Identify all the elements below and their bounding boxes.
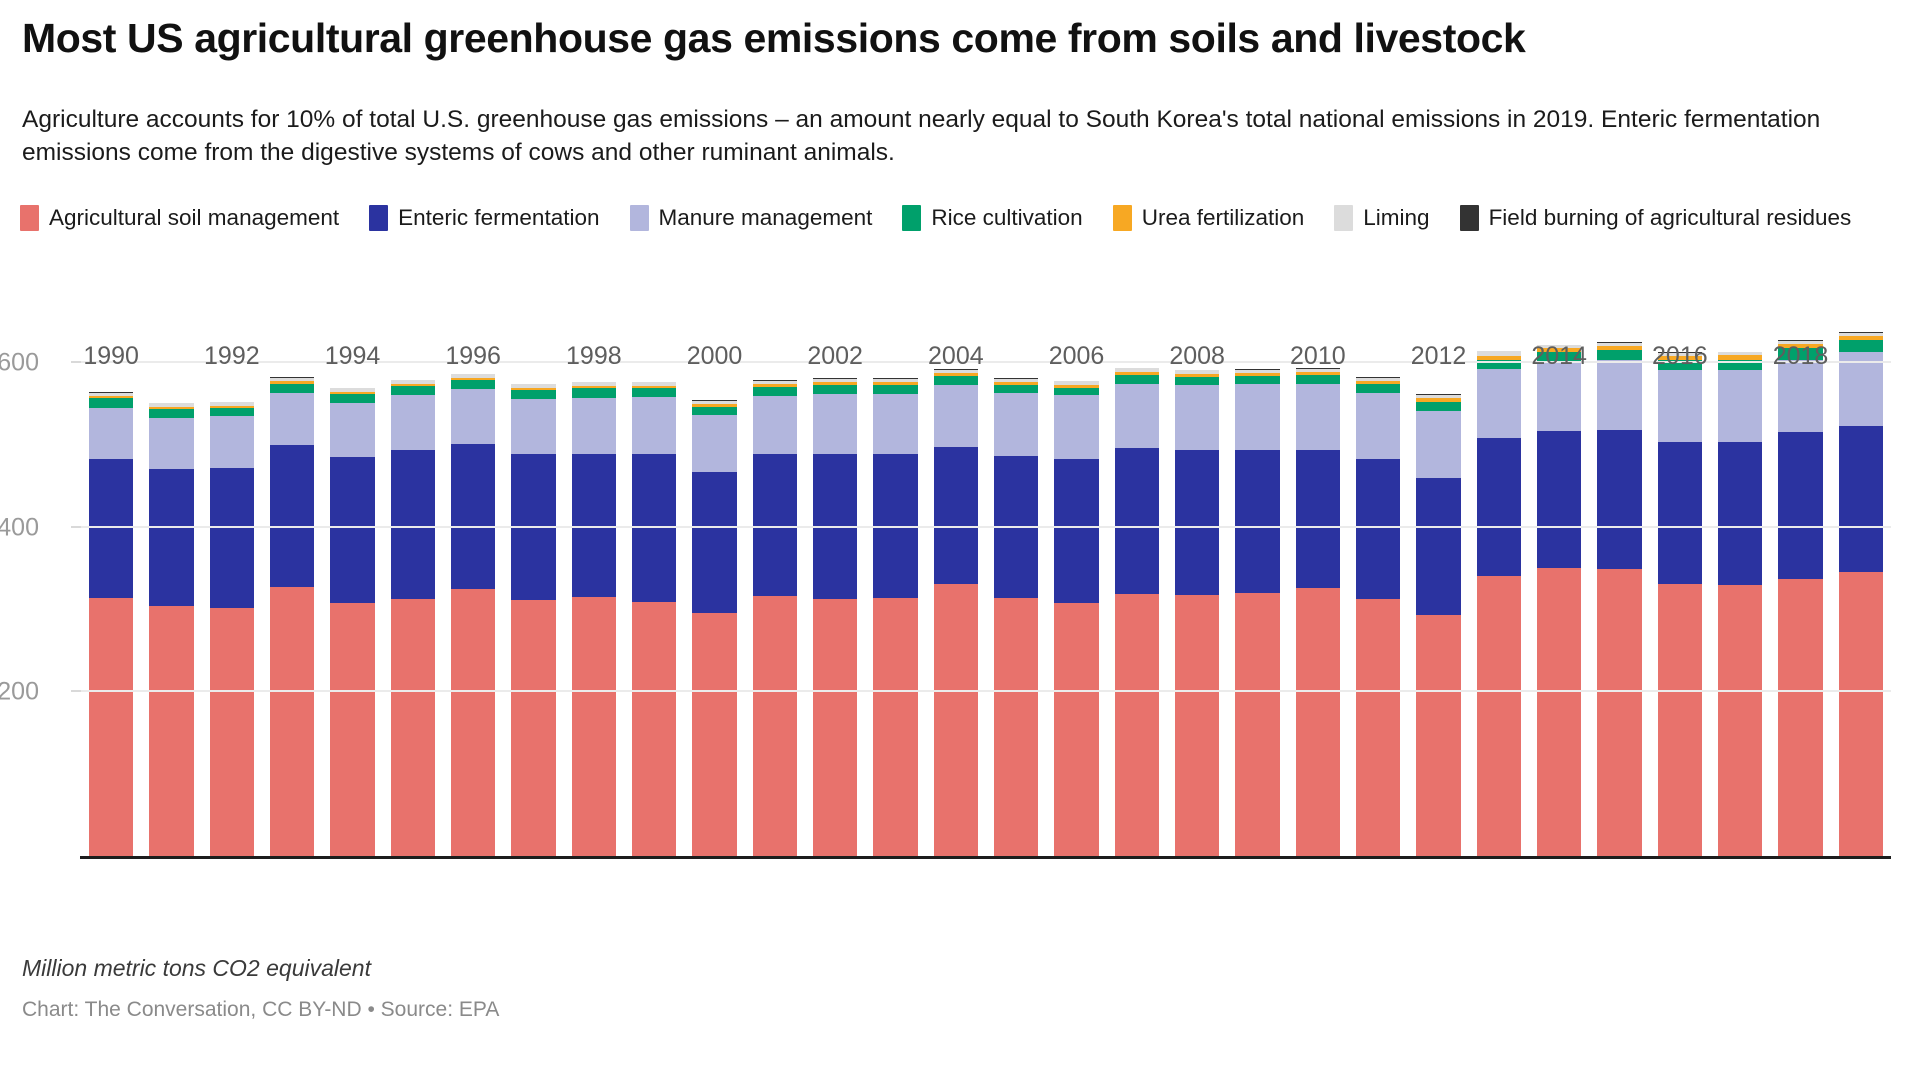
x-axis-tick-label: 2000 [687, 342, 743, 371]
bar-segment [1175, 385, 1219, 450]
bar-stack[interactable] [632, 382, 676, 857]
bar-segment [1537, 431, 1581, 568]
x-axis-tick-label: 1990 [83, 342, 139, 371]
bar-stack[interactable] [1356, 377, 1400, 857]
bar-segment [873, 598, 917, 857]
bar-segment [391, 386, 435, 395]
bar-segment [692, 472, 736, 613]
bar-stack[interactable] [934, 369, 978, 857]
chart-legend: Agricultural soil managementEnteric ferm… [20, 205, 1890, 231]
bar-segment [270, 384, 314, 393]
bar-segment [210, 416, 254, 467]
plot-inner: 200400600 [81, 330, 1891, 857]
legend-item-label: Manure management [659, 207, 873, 230]
x-axis-tick-label: 2018 [1773, 342, 1829, 371]
bar-group [81, 330, 1891, 857]
bar-segment [934, 376, 978, 385]
legend-swatch-icon [1460, 205, 1479, 231]
legend-item[interactable]: Urea fertilization [1113, 205, 1305, 231]
bar-segment [934, 584, 978, 857]
bar-segment [873, 385, 917, 394]
bar-segment [1718, 585, 1762, 857]
legend-item[interactable]: Rice cultivation [902, 205, 1082, 231]
legend-item[interactable]: Liming [1334, 205, 1429, 231]
y-axis-tick [71, 526, 81, 528]
bar-segment [1537, 568, 1581, 857]
bar-segment [89, 598, 133, 857]
page-subtitle: Agriculture accounts for 10% of total U.… [22, 104, 1862, 170]
bar-stack[interactable] [692, 400, 736, 857]
x-axis-line [80, 856, 1891, 859]
bar-segment [1054, 603, 1098, 857]
bar-segment [1235, 384, 1279, 450]
bar-segment [1416, 402, 1460, 411]
bar-stack[interactable] [149, 403, 193, 857]
bar-segment [330, 457, 374, 603]
bar-stack[interactable] [1597, 342, 1641, 857]
bar-stack[interactable] [1175, 370, 1219, 857]
bar-segment [391, 395, 435, 450]
bar-segment [1416, 615, 1460, 857]
bar-stack[interactable] [89, 392, 133, 857]
bar-segment [1778, 579, 1822, 857]
bar-stack[interactable] [1054, 381, 1098, 857]
x-axis-tick-label: 2010 [1290, 342, 1346, 371]
bar-segment [149, 409, 193, 418]
bar-segment [692, 407, 736, 415]
y-axis-tick-label: 600 [0, 348, 39, 377]
bar-segment [1597, 430, 1641, 568]
bar-segment [1839, 426, 1883, 573]
bar-segment [1658, 442, 1702, 584]
bar-stack[interactable] [1416, 394, 1460, 857]
legend-item-label: Liming [1363, 207, 1429, 230]
bar-segment [451, 444, 495, 590]
bar-segment [1477, 576, 1521, 857]
gridline [81, 526, 1891, 528]
bar-segment [1839, 340, 1883, 352]
bar-segment [270, 587, 314, 857]
legend-item[interactable]: Manure management [630, 205, 873, 231]
bar-segment [451, 380, 495, 389]
bar-segment [1537, 362, 1581, 431]
bar-stack[interactable] [270, 377, 314, 857]
bar-segment [1839, 572, 1883, 857]
bar-segment [1296, 588, 1340, 857]
legend-item-label: Enteric fermentation [398, 207, 599, 230]
bar-stack[interactable] [1477, 351, 1521, 857]
bar-segment [632, 388, 676, 396]
bar-segment [994, 598, 1038, 857]
bar-segment [149, 606, 193, 857]
x-axis-tick-label: 1996 [445, 342, 501, 371]
bar-segment [1115, 594, 1159, 858]
bar-segment [511, 390, 555, 399]
bar-stack[interactable] [1658, 352, 1702, 857]
x-axis-tick-label: 1994 [325, 342, 381, 371]
legend-swatch-icon [630, 205, 649, 231]
bar-segment [1235, 450, 1279, 592]
bar-segment [572, 388, 616, 397]
bar-segment [1416, 411, 1460, 479]
bar-segment [753, 387, 797, 396]
bar-segment [994, 393, 1038, 456]
bar-segment [451, 389, 495, 443]
bar-stack[interactable] [1718, 352, 1762, 857]
plot-area: 200400600 199019921994199619982000200220… [81, 330, 1891, 857]
y-axis-tick [71, 361, 81, 363]
bar-segment [1658, 370, 1702, 442]
bar-segment [1235, 593, 1279, 857]
bar-segment [934, 447, 978, 585]
bar-segment [753, 596, 797, 857]
bar-segment [330, 603, 374, 857]
bar-segment [753, 396, 797, 454]
bar-segment [1658, 584, 1702, 857]
x-axis-tick-label: 2008 [1169, 342, 1225, 371]
bar-segment [330, 394, 374, 403]
bar-segment [451, 589, 495, 857]
bar-segment [89, 398, 133, 408]
bar-stack[interactable] [753, 380, 797, 857]
x-axis-tick-label: 2016 [1652, 342, 1708, 371]
bar-stack[interactable] [1839, 332, 1883, 857]
bar-segment [813, 385, 857, 394]
bar-segment [89, 408, 133, 459]
bar-segment [813, 394, 857, 454]
x-axis-tick-label: 2006 [1049, 342, 1105, 371]
bar-stack[interactable] [210, 402, 254, 857]
legend-swatch-icon [902, 205, 921, 231]
bar-segment [632, 454, 676, 601]
legend-item[interactable]: Enteric fermentation [369, 205, 599, 231]
bar-segment [1718, 370, 1762, 442]
bar-segment [1296, 450, 1340, 588]
legend-item-label: Rice cultivation [931, 207, 1082, 230]
bar-stack[interactable] [994, 378, 1038, 857]
bar-segment [572, 398, 616, 455]
bar-segment [1356, 459, 1400, 599]
bar-segment [1839, 352, 1883, 425]
bar-segment [692, 415, 736, 473]
bar-stack[interactable] [1115, 368, 1159, 857]
bar-segment [1054, 459, 1098, 602]
bar-segment [1597, 360, 1641, 430]
bar-segment [873, 394, 917, 454]
bar-segment [994, 385, 1038, 393]
bar-segment [1054, 395, 1098, 459]
bar-stack[interactable] [330, 388, 374, 857]
bar-segment [1597, 350, 1641, 361]
bar-segment [1235, 376, 1279, 384]
chart-credit: Chart: The Conversation, CC BY-ND • Sour… [22, 998, 499, 1022]
chart-page: Most US agricultural greenhouse gas emis… [0, 0, 1920, 1065]
bar-segment [1054, 388, 1098, 395]
gridline [81, 690, 1891, 692]
bar-segment [1175, 595, 1219, 857]
x-axis-tick-label: 1992 [204, 342, 260, 371]
bar-stack[interactable] [873, 378, 917, 857]
bar-segment [632, 397, 676, 455]
bar-stack[interactable] [391, 380, 435, 857]
x-axis-tick-label: 2002 [807, 342, 863, 371]
bar-segment [934, 385, 978, 447]
bar-stack[interactable] [1537, 345, 1581, 857]
bar-segment [89, 459, 133, 597]
bar-segment [149, 418, 193, 469]
bar-stack[interactable] [1235, 369, 1279, 857]
bar-stack[interactable] [813, 378, 857, 857]
bar-segment [210, 408, 254, 416]
bar-segment [1477, 369, 1521, 438]
legend-item-label: Field burning of agricultural residues [1489, 207, 1852, 230]
bar-segment [692, 613, 736, 857]
legend-item[interactable]: Agricultural soil management [20, 205, 339, 231]
bar-segment [149, 469, 193, 606]
bar-stack[interactable] [511, 384, 555, 857]
bar-segment [210, 608, 254, 858]
bar-segment [813, 599, 857, 857]
bar-segment [1356, 384, 1400, 392]
bar-segment [632, 602, 676, 857]
bar-segment [210, 468, 254, 608]
bar-stack[interactable] [1778, 340, 1822, 857]
bar-segment [270, 445, 314, 587]
bar-segment [1597, 569, 1641, 857]
bar-stack[interactable] [572, 382, 616, 857]
legend-item-label: Agricultural soil management [49, 207, 339, 230]
bar-segment [511, 600, 555, 857]
bar-segment [1356, 393, 1400, 460]
legend-swatch-icon [369, 205, 388, 231]
bar-segment [572, 597, 616, 857]
unit-note: Million metric tons CO2 equivalent [22, 955, 371, 982]
y-axis-tick-label: 400 [0, 513, 39, 542]
bar-segment [1115, 448, 1159, 594]
x-axis-tick-label: 1998 [566, 342, 622, 371]
legend-swatch-icon [1334, 205, 1353, 231]
bar-stack[interactable] [451, 374, 495, 857]
bar-segment [330, 403, 374, 457]
legend-item[interactable]: Field burning of agricultural residues [1460, 205, 1852, 231]
bar-segment [1356, 599, 1400, 857]
bar-segment [1175, 450, 1219, 595]
bar-segment [391, 599, 435, 857]
y-axis-tick [71, 690, 81, 692]
bar-segment [1115, 384, 1159, 448]
bar-segment [1175, 377, 1219, 385]
bar-segment [1115, 375, 1159, 383]
legend-swatch-icon [20, 205, 39, 231]
legend-swatch-icon [1113, 205, 1132, 231]
bar-segment [1296, 375, 1340, 384]
x-axis-tick-label: 2004 [928, 342, 984, 371]
x-axis-tick-label: 2014 [1531, 342, 1587, 371]
bar-segment [270, 393, 314, 446]
bar-segment [1778, 432, 1822, 579]
bar-segment [1296, 384, 1340, 450]
bar-segment [1477, 438, 1521, 576]
page-title: Most US agricultural greenhouse gas emis… [22, 16, 1882, 62]
x-axis-tick-label: 2012 [1411, 342, 1467, 371]
legend-item-label: Urea fertilization [1142, 207, 1305, 230]
y-axis-tick-label: 200 [0, 678, 39, 707]
bar-segment [1416, 478, 1460, 615]
bar-segment [1718, 442, 1762, 585]
bar-stack[interactable] [1296, 368, 1340, 857]
bar-segment [511, 399, 555, 454]
